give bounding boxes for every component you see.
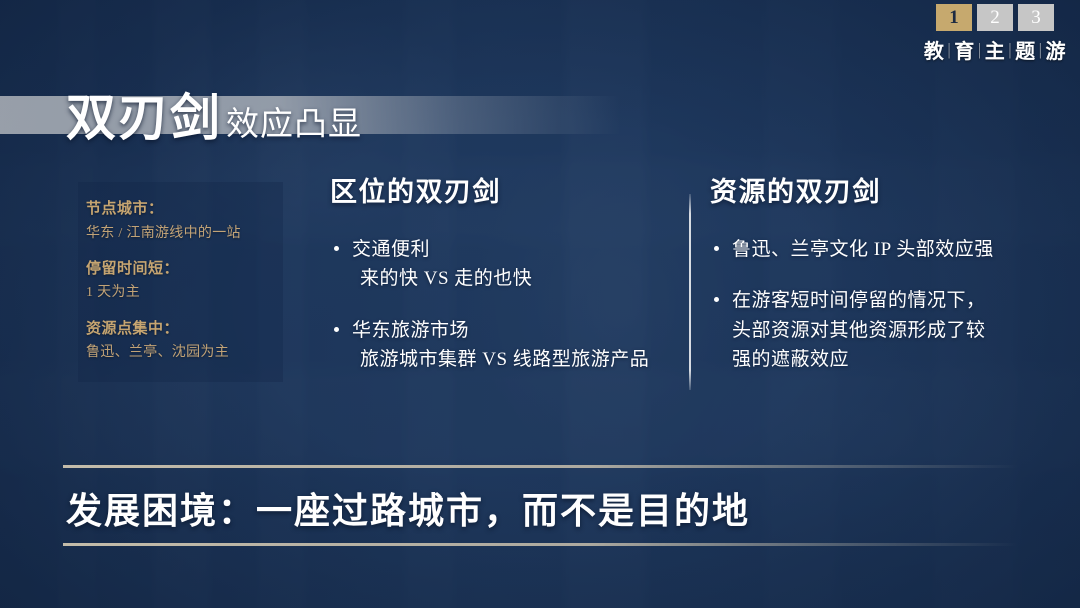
- bullet-line-2: 来的快 VS 走的也快: [352, 264, 670, 293]
- chapter-title: 教 | 育 | 主 | 题 | 游: [922, 35, 1068, 64]
- info-item-resource-concentration: 资源点集中： 鲁迅、兰亭、沈园为主: [86, 318, 283, 365]
- bottom-banner: 发展困境：一座过路城市，而不是目的地: [0, 455, 1080, 555]
- chapter-title-char-2: 育: [952, 35, 977, 64]
- column-location: 区位的双刃剑 交通便利 来的快 VS 走的也快 华东旅游市场 旅游城市集群 VS…: [330, 170, 670, 375]
- info-value-short-stay: 1 天为主: [86, 282, 283, 304]
- info-panel: 节点城市： 华东 / 江南游线中的一站 停留时间短： 1 天为主 资源点集中： …: [78, 182, 283, 382]
- bullet-line-2: 旅游城市集群 VS 线路型旅游产品: [352, 345, 670, 374]
- info-label-resource-concentration: 资源点集中：: [86, 318, 283, 341]
- column-location-bullets: 交通便利 来的快 VS 走的也快 华东旅游市场 旅游城市集群 VS 线路型旅游产…: [330, 235, 670, 375]
- bullet-line-3: 强的遮蔽效应: [732, 345, 1055, 374]
- list-item: 华东旅游市场 旅游城市集群 VS 线路型旅游产品: [330, 316, 670, 375]
- chapter-tab-1[interactable]: 1: [936, 4, 972, 31]
- info-value-resource-concentration: 鲁迅、兰亭、沈园为主: [86, 342, 283, 364]
- page-title-main: 双刃剑: [66, 78, 222, 150]
- column-location-heading: 区位的双刃剑: [330, 170, 670, 209]
- info-item-short-stay: 停留时间短： 1 天为主: [86, 258, 283, 305]
- bullet-line-2: 头部资源对其他资源形成了较: [732, 316, 1055, 345]
- list-item: 鲁迅、兰亭文化 IP 头部效应强: [710, 235, 1055, 264]
- list-item: 交通便利 来的快 VS 走的也快: [330, 235, 670, 294]
- bullet-line-1: 在游客短时间停留的情况下，: [732, 286, 1055, 315]
- chapter-tab-3-label: 3: [1031, 8, 1041, 27]
- info-value-node-city: 华东 / 江南游线中的一站: [86, 223, 283, 245]
- chapter-title-char-3: 主: [983, 35, 1008, 64]
- banner-headline: 发展困境：一座过路城市，而不是目的地: [66, 482, 750, 534]
- page-title-sub: 效应凸显: [226, 97, 362, 145]
- column-resource-heading: 资源的双刃剑: [710, 170, 1055, 209]
- chapter-title-char-5: 游: [1044, 35, 1069, 64]
- info-label-node-city: 节点城市：: [86, 198, 283, 221]
- content-area: 节点城市： 华东 / 江南游线中的一站 停留时间短： 1 天为主 资源点集中： …: [0, 170, 1080, 410]
- chapter-tab-2-label: 2: [990, 8, 1000, 27]
- bullet-line-1: 交通便利: [352, 239, 430, 260]
- banner-rule-top: [63, 465, 1018, 468]
- list-item: 在游客短时间停留的情况下， 头部资源对其他资源形成了较 强的遮蔽效应: [710, 286, 1055, 374]
- chapter-tab-3[interactable]: 3: [1018, 4, 1054, 31]
- chapter-nav: 1 2 3 教 | 育 | 主 | 题 | 游: [922, 4, 1068, 64]
- slide-root: 1 2 3 教 | 育 | 主 | 题 | 游 双刃剑 效应凸显: [0, 0, 1080, 608]
- chapter-tab-1-label: 1: [949, 8, 959, 27]
- banner-rule-bottom: [63, 543, 1018, 546]
- bullet-line-1: 鲁迅、兰亭文化 IP 头部效应强: [732, 239, 994, 260]
- chapter-tab-2[interactable]: 2: [977, 4, 1013, 31]
- chapter-number-group: 1 2 3: [936, 4, 1054, 31]
- chapter-title-char-4: 题: [1013, 35, 1038, 64]
- info-item-node-city: 节点城市： 华东 / 江南游线中的一站: [86, 198, 283, 245]
- column-resource: 资源的双刃剑 鲁迅、兰亭文化 IP 头部效应强 在游客短时间停留的情况下， 头部…: [710, 170, 1055, 375]
- column-resource-bullets: 鲁迅、兰亭文化 IP 头部效应强 在游客短时间停留的情况下， 头部资源对其他资源…: [710, 235, 1055, 375]
- page-title: 双刃剑 效应凸显: [66, 78, 362, 150]
- bullet-line-1: 华东旅游市场: [352, 320, 469, 341]
- column-divider: [689, 194, 691, 390]
- info-label-short-stay: 停留时间短：: [86, 258, 283, 281]
- chapter-title-char-1: 教: [922, 35, 947, 64]
